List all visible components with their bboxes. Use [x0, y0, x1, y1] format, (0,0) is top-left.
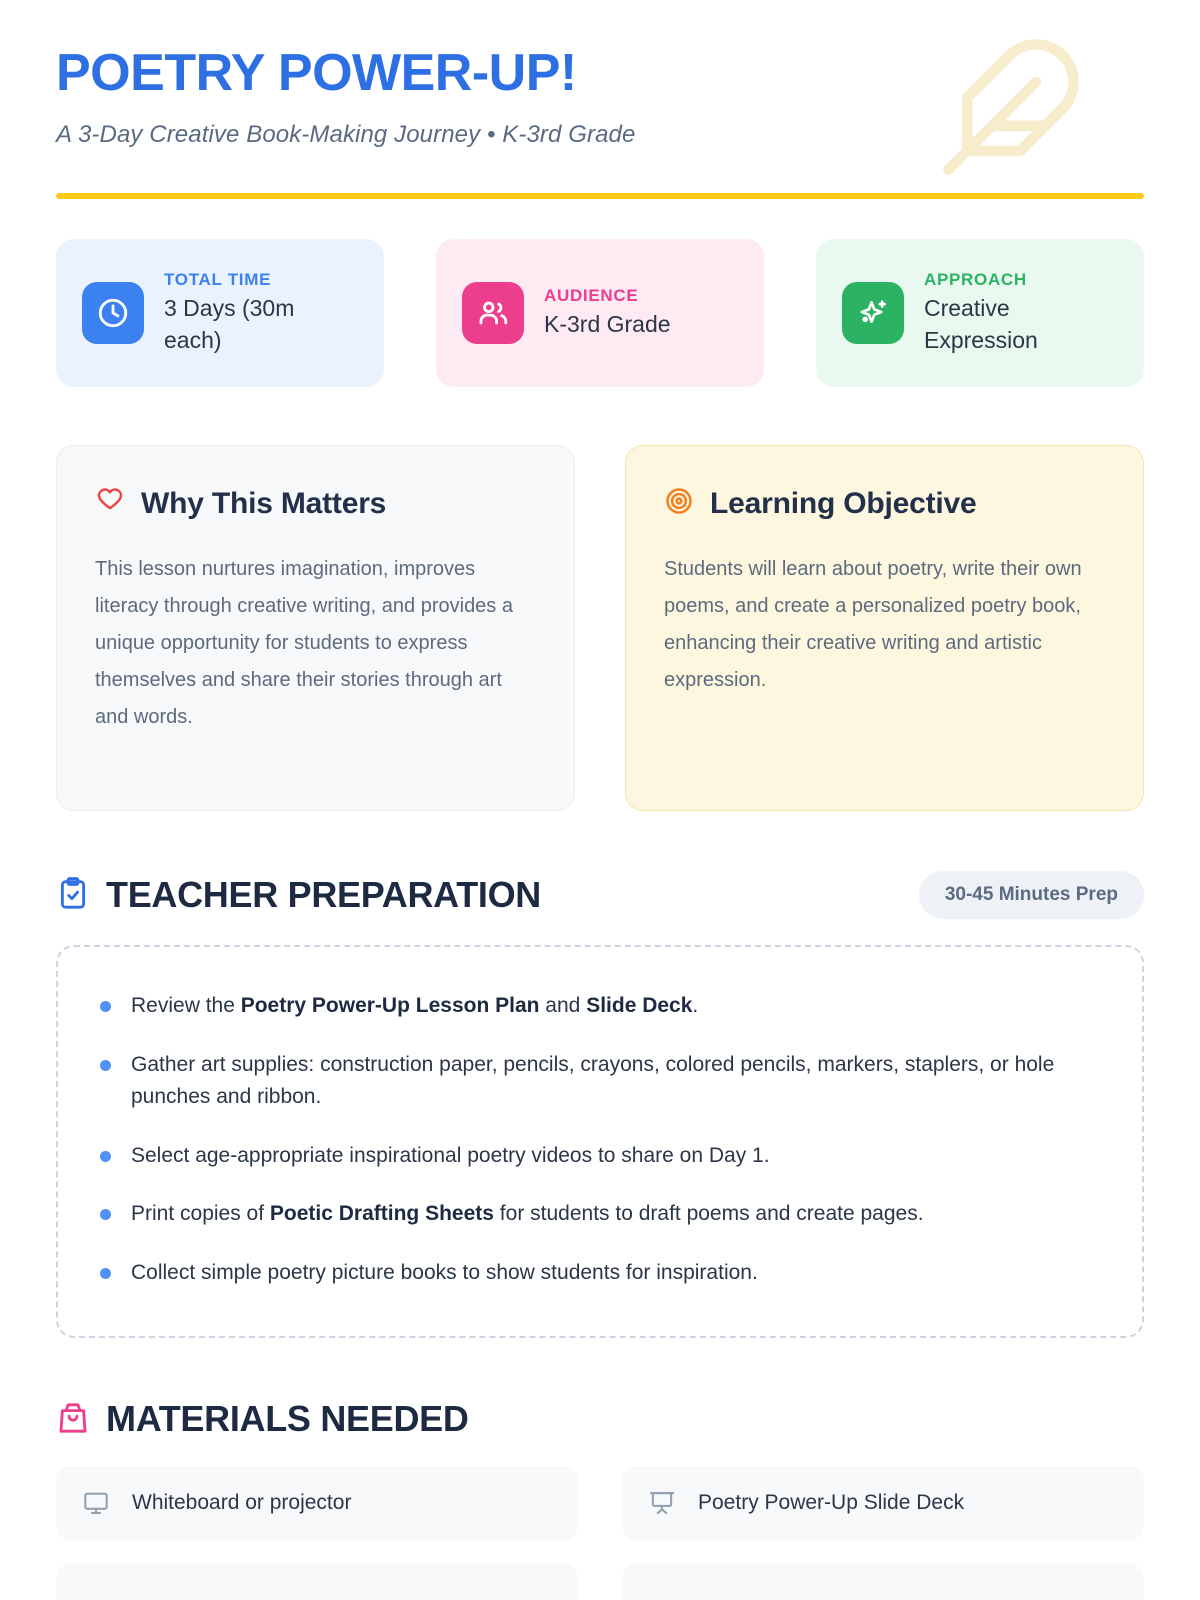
info-card-total-time: TOTAL TIME 3 Days (30m each) [56, 239, 384, 387]
bullet-icon [100, 1268, 111, 1279]
info-card-label: APPROACH [924, 270, 1118, 290]
prep-item-text: Collect simple poetry picture books to s… [131, 1257, 758, 1290]
list-item: Review the Poetry Power-Up Lesson Plan a… [100, 977, 1100, 1036]
section-title: MATERIALS NEEDED [106, 1398, 469, 1440]
materials-list: Whiteboard or projector Poetry Power-Up … [56, 1466, 1144, 1600]
prep-item-text: Print copies of Poetic Drafting Sheets f… [131, 1198, 924, 1231]
sparkles-icon [842, 282, 904, 344]
feature-card-title: Learning Objective [710, 487, 976, 521]
feature-card-title: Why This Matters [141, 487, 386, 521]
target-icon [664, 486, 694, 521]
page-subtitle: A 3-Day Creative Book-Making Journey • K… [56, 121, 1144, 149]
material-item-row2-right [622, 1564, 1144, 1600]
why-this-matters-card: Why This Matters This lesson nurtures im… [56, 445, 575, 811]
clock-icon [82, 282, 144, 344]
list-item: Gather art supplies: construction paper,… [100, 1036, 1100, 1127]
feature-card-body: This lesson nurtures imagination, improv… [95, 551, 536, 736]
material-item-slide-deck: Poetry Power-Up Slide Deck [622, 1466, 1144, 1540]
prep-item-text: Review the Poetry Power-Up Lesson Plan a… [131, 990, 698, 1023]
feature-card-row: Why This Matters This lesson nurtures im… [56, 445, 1144, 811]
learning-objective-card: Learning Objective Students will learn a… [625, 445, 1144, 811]
material-item-label: Poetry Power-Up Slide Deck [698, 1491, 964, 1515]
list-item: Collect simple poetry picture books to s… [100, 1244, 1100, 1303]
info-card-value: K-3rd Grade [544, 309, 671, 340]
info-card-row: TOTAL TIME 3 Days (30m each) AUDIENCE K-… [56, 239, 1144, 387]
bullet-icon [100, 1060, 111, 1071]
info-card-value: Creative Expression [924, 293, 1118, 356]
info-card-value: 3 Days (30m each) [164, 293, 358, 356]
section-title: TEACHER PREPARATION [106, 874, 541, 916]
material-item-label: Whiteboard or projector [132, 1491, 351, 1515]
list-item: Print copies of Poetic Drafting Sheets f… [100, 1185, 1100, 1244]
heart-icon [95, 486, 125, 521]
info-card-audience: AUDIENCE K-3rd Grade [436, 239, 764, 387]
bullet-icon [100, 1001, 111, 1012]
teacher-preparation-header: TEACHER PREPARATION 30-45 Minutes Prep [56, 871, 1144, 919]
bullet-icon [100, 1151, 111, 1162]
shopping-bag-icon [56, 1400, 90, 1439]
teacher-preparation-list: Review the Poetry Power-Up Lesson Plan a… [56, 945, 1144, 1338]
info-card-approach: APPROACH Creative Expression [816, 239, 1144, 387]
info-card-label: TOTAL TIME [164, 270, 358, 290]
prep-item-text: Select age-appropriate inspirational poe… [131, 1140, 770, 1173]
page-title: POETRY POWER-UP! [56, 46, 1144, 101]
info-card-label: AUDIENCE [544, 286, 671, 306]
material-item-whiteboard: Whiteboard or projector [56, 1466, 578, 1540]
monitor-icon [82, 1489, 112, 1517]
presentation-icon [648, 1489, 678, 1517]
prep-time-badge: 30-45 Minutes Prep [919, 871, 1144, 919]
materials-needed-header: MATERIALS NEEDED [56, 1398, 1144, 1440]
clipboard-check-icon [56, 876, 90, 915]
users-icon [462, 282, 524, 344]
prep-item-text: Gather art supplies: construction paper,… [131, 1049, 1100, 1114]
feature-card-body: Students will learn about poetry, write … [664, 551, 1105, 699]
header-divider [56, 193, 1144, 199]
material-item-row2-left [56, 1564, 578, 1600]
list-item: Select age-appropriate inspirational poe… [100, 1127, 1100, 1186]
page-header: POETRY POWER-UP! A 3-Day Creative Book-M… [56, 0, 1144, 199]
lesson-plan-page: POETRY POWER-UP! A 3-Day Creative Book-M… [0, 0, 1200, 1600]
bullet-icon [100, 1209, 111, 1220]
